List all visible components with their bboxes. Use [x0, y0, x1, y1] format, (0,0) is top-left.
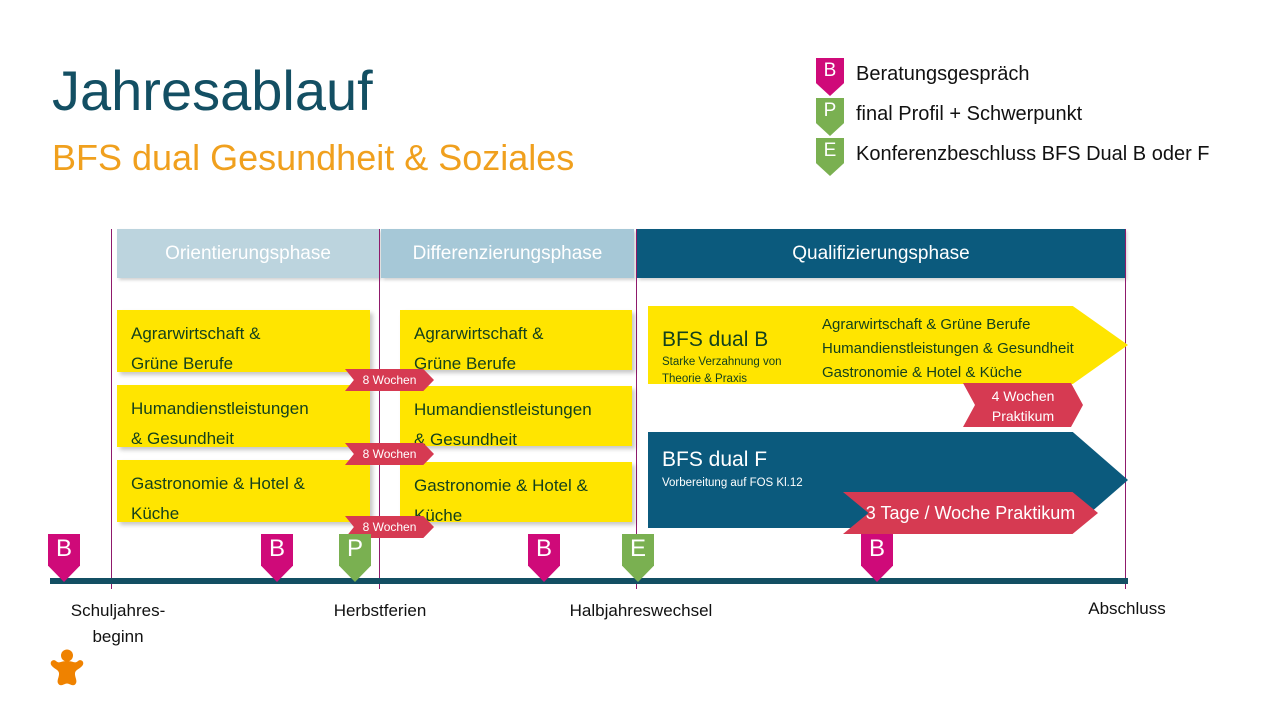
- praktikum-badge-4-wochen: 4 Wochen Praktikum: [963, 383, 1083, 427]
- timeline-marker: B: [528, 534, 560, 582]
- transition-chevron: 8 Wochen: [345, 369, 434, 391]
- subject-box: Gastronomie & Hotel & Küche: [117, 460, 370, 522]
- subject-line: Agrarwirtschaft &: [131, 319, 370, 349]
- pin-marker-icon: B: [861, 534, 893, 582]
- timeline-marker: B: [261, 534, 293, 582]
- track-subject-item: Agrarwirtschaft & Grüne Berufe: [822, 313, 1074, 337]
- subject-line: Agrarwirtschaft &: [414, 319, 632, 349]
- timeline-label-line: beginn: [48, 624, 188, 650]
- praktikum-line: 4 Wochen: [963, 386, 1083, 406]
- subject-line: & Gesundheit: [414, 425, 632, 455]
- pin-marker-icon: P: [339, 534, 371, 582]
- subject-box: Humandienstleistungen & Gesundheit: [400, 386, 632, 446]
- subject-line: Gastronomie & Hotel &: [414, 471, 632, 501]
- legend: B Beratungsgespräch P final Profil + Sch…: [816, 58, 1276, 178]
- legend-label: Konferenzbeschluss BFS Dual B oder F: [856, 141, 1210, 167]
- subject-line: & Gesundheit: [131, 424, 370, 454]
- subject-line: Grüne Berufe: [414, 349, 632, 379]
- subject-line: Humandienstleistungen: [414, 395, 632, 425]
- pin-marker-icon: E: [816, 138, 844, 176]
- legend-pin-b: B: [816, 58, 844, 96]
- pin-marker-icon: P: [816, 98, 844, 136]
- slide-canvas: Jahresablauf BFS dual Gesundheit & Sozia…: [0, 0, 1280, 720]
- legend-label: final Profil + Schwerpunkt: [856, 101, 1082, 127]
- phase-header-orientierungsphase: Orientierungsphase: [117, 229, 379, 278]
- transition-chevron: 8 Wochen: [345, 443, 434, 465]
- timeline-marker: P: [339, 534, 371, 582]
- subject-line: Gastronomie & Hotel &: [131, 469, 370, 499]
- legend-pin-e: E: [816, 138, 844, 176]
- timeline-axis: [50, 578, 1128, 584]
- subject-line: Humandienstleistungen: [131, 394, 370, 424]
- page-title: Jahresablauf: [52, 60, 373, 122]
- divider-line-abschluss: [1125, 229, 1126, 589]
- pin-marker-icon: B: [816, 58, 844, 96]
- track-subtitle-bfs-dual-b: Starke Verzahnung von Theorie & Praxis: [662, 354, 782, 388]
- legend-label: Beratungsgespräch: [856, 61, 1029, 87]
- timeline-label-halbjahreswechsel: Halbjahreswechsel: [556, 598, 726, 624]
- praktikum-badge-3-tage: 3 Tage / Woche Praktikum: [843, 492, 1098, 534]
- timeline-label-abschluss: Abschluss: [1072, 596, 1182, 622]
- track-subject-item: Gastronomie & Hotel & Küche: [822, 361, 1074, 385]
- track-title-bfs-dual-b: BFS dual B: [662, 328, 768, 352]
- subject-line: Küche: [131, 499, 370, 529]
- timeline-label-herbstferien: Herbstferien: [310, 598, 450, 624]
- subject-line: Küche: [414, 501, 632, 531]
- track-subject-item: Humandienstleistungen & Gesundheit: [822, 337, 1074, 361]
- phase-header-qualifizierungsphase: Qualifizierungsphase: [637, 229, 1125, 278]
- organization-logo-icon: [44, 648, 90, 692]
- page-subtitle: BFS dual Gesundheit & Soziales: [52, 136, 574, 180]
- legend-pin-p: P: [816, 98, 844, 136]
- praktikum-line: Praktikum: [963, 406, 1083, 426]
- pin-marker-icon: B: [528, 534, 560, 582]
- track-title-bfs-dual-f: BFS dual F: [662, 448, 767, 472]
- pin-marker-icon: B: [48, 534, 80, 582]
- subject-box: Agrarwirtschaft & Grüne Berufe: [400, 310, 632, 370]
- timeline-marker: B: [48, 534, 80, 582]
- phase-header-differenzierungsphase: Differenzierungsphase: [381, 229, 634, 278]
- legend-item-final-profil: P final Profil + Schwerpunkt: [816, 98, 1276, 138]
- track-subtitle-line: Starke Verzahnung von: [662, 354, 782, 371]
- subject-box: Gastronomie & Hotel & Küche: [400, 462, 632, 522]
- subject-line: Grüne Berufe: [131, 349, 370, 379]
- legend-item-konferenzbeschluss: E Konferenzbeschluss BFS Dual B oder F: [816, 138, 1276, 178]
- pin-marker-icon: E: [622, 534, 654, 582]
- track-subject-list-bfs-dual-b: Agrarwirtschaft & Grüne Berufe Humandien…: [822, 313, 1074, 385]
- track-subtitle-bfs-dual-f: Vorbereitung auf FOS Kl.12: [662, 475, 803, 492]
- divider-line-start: [111, 229, 112, 589]
- track-subtitle-line: Theorie & Praxis: [662, 371, 782, 388]
- timeline-marker: B: [861, 534, 893, 582]
- timeline-label-schuljahresbeginn: Schuljahres- beginn: [48, 598, 188, 650]
- timeline-label-line: Schuljahres-: [48, 598, 188, 624]
- subject-box: Agrarwirtschaft & Grüne Berufe: [117, 310, 370, 372]
- subject-box: Humandienstleistungen & Gesundheit: [117, 385, 370, 447]
- legend-item-beratungsgespraech: B Beratungsgespräch: [816, 58, 1276, 98]
- timeline-marker: E: [622, 534, 654, 582]
- pin-marker-icon: B: [261, 534, 293, 582]
